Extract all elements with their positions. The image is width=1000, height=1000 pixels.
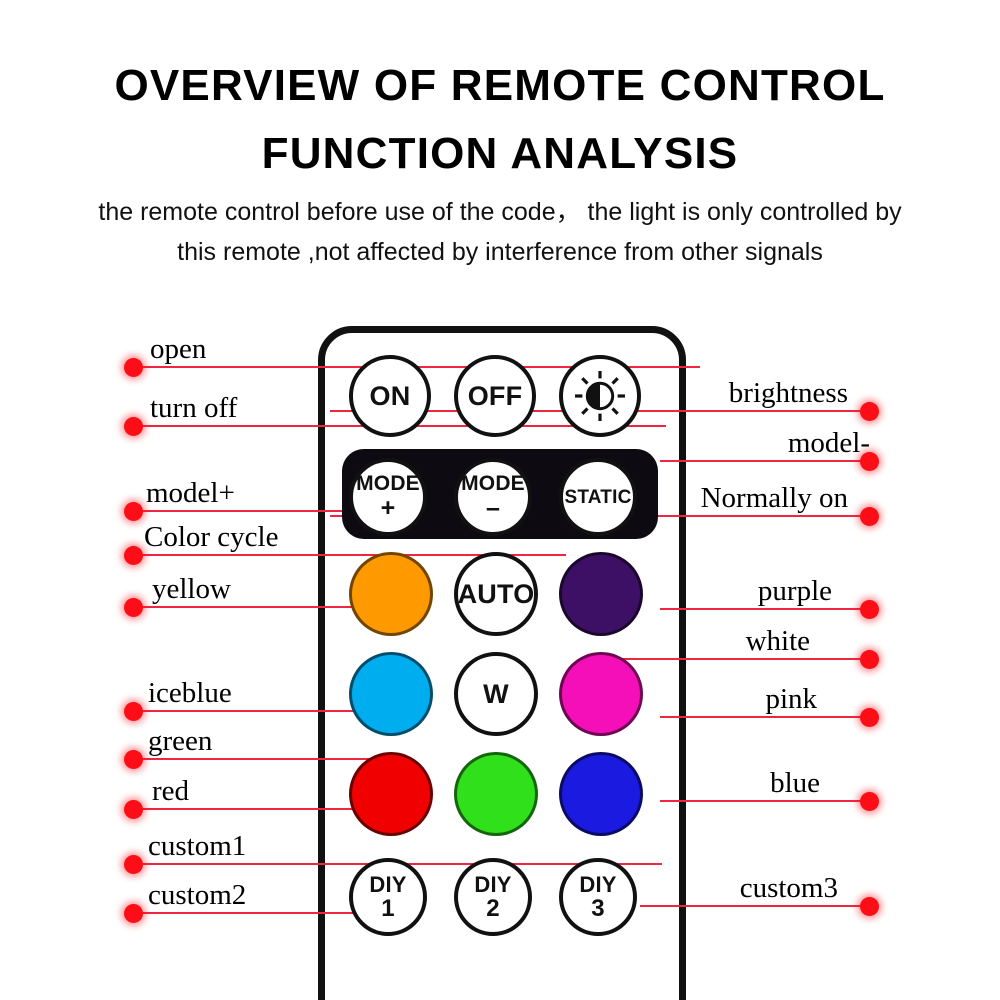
callout-white-dot [860, 650, 879, 669]
callout-custom1-dot [124, 855, 143, 874]
remote-control-infographic: OVERVIEW OF REMOTE CONTROL FUNCTION ANAL… [0, 0, 1000, 1000]
white-button[interactable]: W [454, 652, 538, 736]
callout-purple-dot [860, 600, 879, 619]
mode-minus-button-label: MODE [461, 473, 525, 494]
auto-button-label: AUTO [458, 581, 535, 608]
callout-custom3-dot [860, 897, 879, 916]
subtitle-line-2: this remote ,not affected by interferenc… [20, 232, 980, 272]
callout-custom1: custom1 [148, 830, 246, 863]
title-line-1: OVERVIEW OF REMOTE CONTROL [0, 52, 1000, 120]
callout-pink-dot [860, 708, 879, 727]
pink-button[interactable] [559, 652, 643, 736]
brightness-button[interactable] [559, 355, 641, 437]
diy1-button-label: DIY [369, 874, 406, 896]
off-button-label: OFF [468, 383, 523, 410]
callout-normally-on-dot [860, 507, 879, 526]
callout-color-cycle: Color cycle [144, 521, 278, 554]
brightness-icon [559, 355, 641, 437]
callout-green-line [141, 758, 400, 760]
callout-red: red [152, 775, 189, 808]
page-subtitle: the remote control before use of the cod… [20, 192, 980, 272]
callout-custom3-line [640, 905, 861, 907]
diy3-button-sublabel: 3 [591, 897, 605, 921]
on-button-label: ON [370, 383, 411, 410]
callout-pink: pink [765, 683, 817, 716]
callout-custom3: custom3 [740, 872, 838, 905]
static-button-label: STATIC [565, 488, 632, 507]
callout-white: white [746, 625, 810, 658]
callout-model-minus: model- [788, 427, 870, 460]
red-button[interactable] [349, 752, 433, 836]
callout-red-dot [124, 800, 143, 819]
on-button[interactable]: ON [349, 355, 431, 437]
callout-green-dot [124, 750, 143, 769]
diy1-button[interactable]: DIY1 [349, 858, 427, 936]
callout-purple-line [660, 608, 861, 610]
callout-normally-on: Normally on [701, 482, 848, 515]
callout-blue-dot [860, 792, 879, 811]
callout-blue-line [660, 800, 861, 802]
callout-yellow: yellow [152, 573, 231, 606]
callout-iceblue: iceblue [148, 677, 232, 710]
callout-custom2: custom2 [148, 879, 246, 912]
mode-plus-button-label: MODE [356, 473, 420, 494]
auto-button[interactable]: AUTO [454, 552, 538, 636]
white-button-label: W [483, 681, 509, 708]
callout-iceblue-dot [124, 702, 143, 721]
off-button[interactable]: OFF [454, 355, 536, 437]
callout-custom2-dot [124, 904, 143, 923]
diy3-button-label: DIY [579, 874, 616, 896]
diy2-button-sublabel: 2 [486, 897, 500, 921]
callout-yellow-dot [124, 598, 143, 617]
diy3-button[interactable]: DIY3 [559, 858, 637, 936]
subtitle-line-1: the remote control before use of the cod… [20, 192, 980, 232]
mode-plus-button-sublabel: + [381, 496, 396, 521]
mode-minus-button-sublabel: – [486, 496, 500, 521]
diy2-button[interactable]: DIY2 [454, 858, 532, 936]
callout-white-line [620, 658, 861, 660]
diy2-button-label: DIY [474, 874, 511, 896]
yellow-button[interactable] [349, 552, 433, 636]
static-button[interactable]: STATIC [559, 458, 637, 536]
callout-model-minus-line [660, 460, 861, 462]
callout-model-plus-dot [124, 502, 143, 521]
iceblue-button[interactable] [349, 652, 433, 736]
callout-turn-off: turn off [150, 392, 237, 425]
callout-turn-off-dot [124, 417, 143, 436]
callout-open: open [150, 333, 206, 366]
green-button[interactable] [454, 752, 538, 836]
callout-green: green [148, 725, 212, 758]
callout-pink-line [660, 716, 861, 718]
blue-button[interactable] [559, 752, 643, 836]
title-line-2: FUNCTION ANALYSIS [0, 120, 1000, 188]
page-title: OVERVIEW OF REMOTE CONTROL FUNCTION ANAL… [0, 52, 1000, 188]
callout-model-plus: model+ [146, 477, 235, 510]
mode-minus-button[interactable]: MODE– [454, 458, 532, 536]
callout-brightness: brightness [729, 377, 848, 410]
callout-purple: purple [758, 575, 832, 608]
callout-color-cycle-dot [124, 546, 143, 565]
mode-plus-button[interactable]: MODE+ [349, 458, 427, 536]
callout-blue: blue [770, 767, 820, 800]
callout-brightness-dot [860, 402, 879, 421]
callout-open-dot [124, 358, 143, 377]
purple-button[interactable] [559, 552, 643, 636]
diy1-button-sublabel: 1 [381, 897, 395, 921]
